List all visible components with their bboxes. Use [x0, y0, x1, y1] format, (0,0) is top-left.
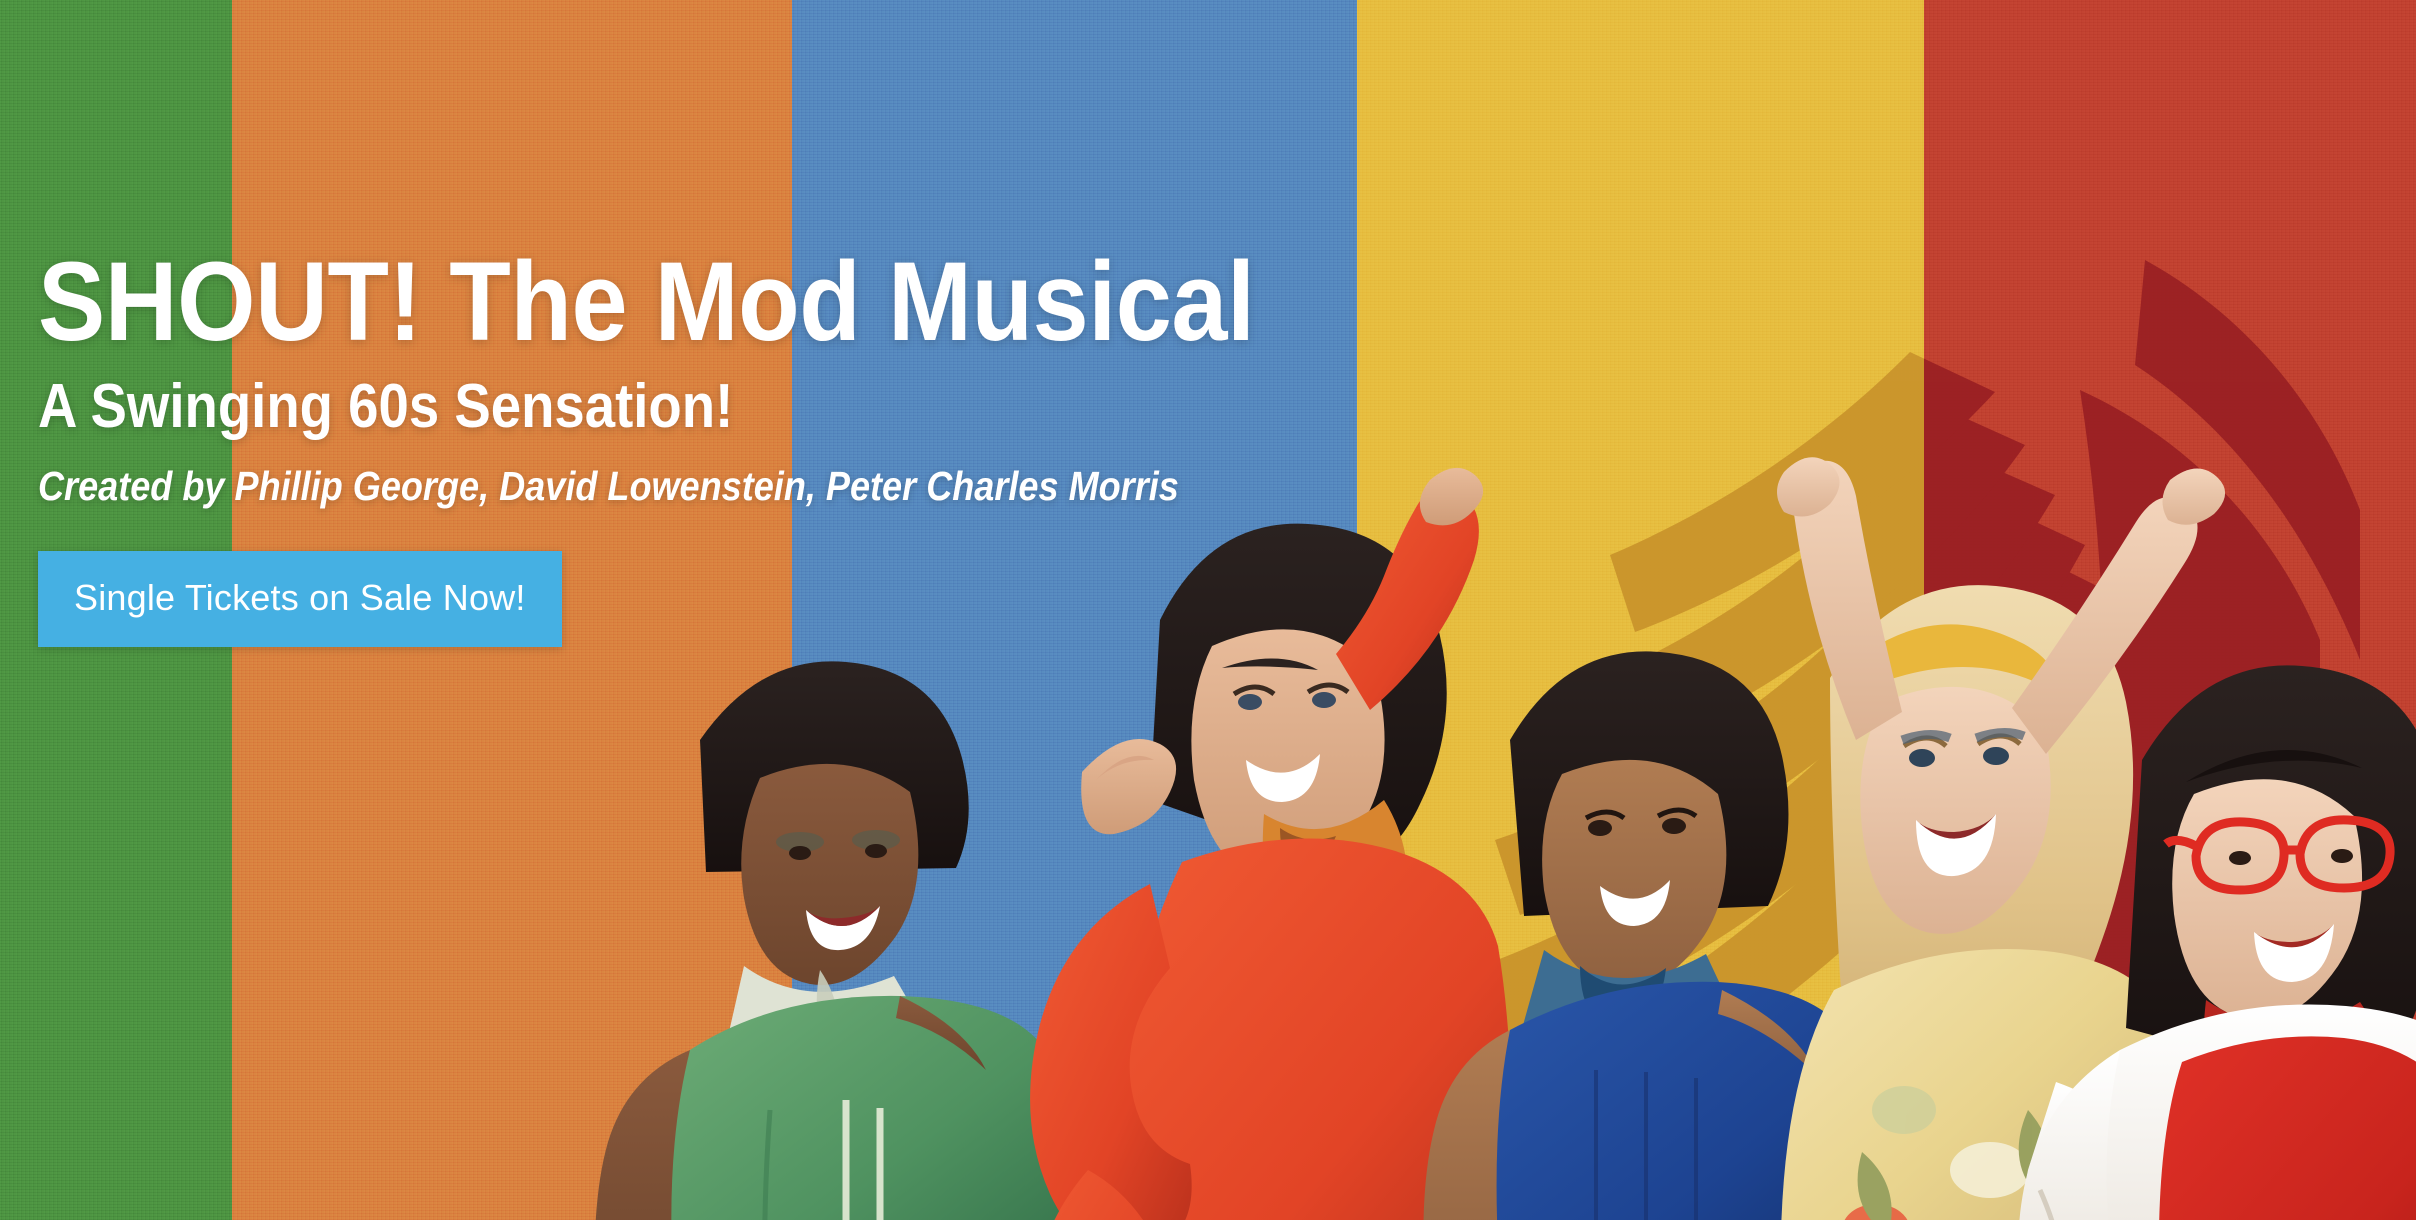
stripe-red — [1924, 0, 2416, 1220]
hero-banner: SHOUT! The Mod Musical A Swinging 60s Se… — [0, 0, 2416, 1220]
hero-copy: SHOUT! The Mod Musical A Swinging 60s Se… — [38, 246, 1598, 647]
page-title: SHOUT! The Mod Musical — [38, 246, 1442, 358]
hero-credits: Created by Phillip George, David Lowenst… — [38, 466, 1411, 507]
single-tickets-on-sale-button[interactable]: Single Tickets on Sale Now! — [38, 551, 562, 647]
hero-subtitle: A Swinging 60s Sensation! — [38, 376, 1411, 438]
